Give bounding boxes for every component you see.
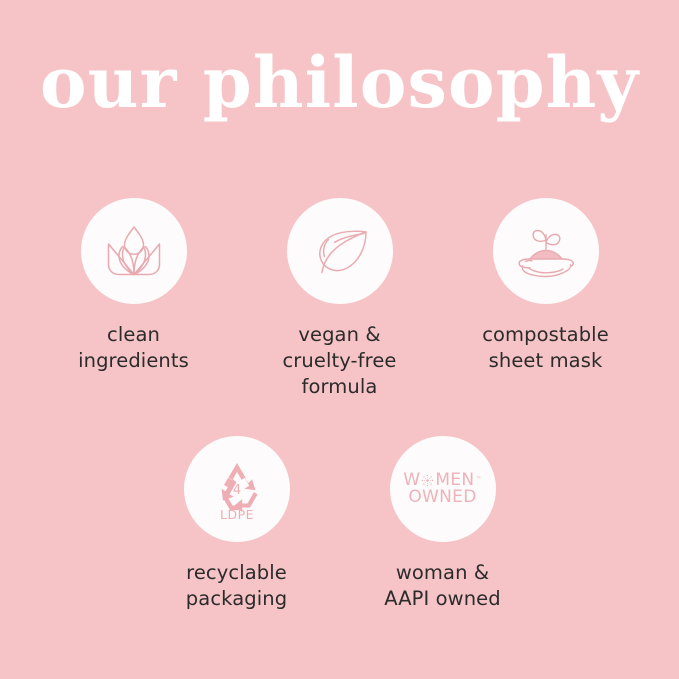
feature-vegan-cruelty-free: vegan & cruelty-free formula [237, 198, 443, 400]
caption-line: cruelty-free [282, 348, 396, 374]
caption-line: formula [282, 374, 396, 400]
badge-vegan-cruelty-free [287, 198, 393, 304]
lotus-droplet-leaves-icon [96, 213, 172, 289]
leaf-icon [304, 215, 376, 287]
page-title: our philosophy [0, 48, 679, 118]
recycling-ldpe-icon: 4 LDPE [202, 454, 272, 524]
caption-line: packaging [186, 586, 287, 612]
caption-line: ingredients [78, 348, 189, 374]
caption-clean-ingredients: clean ingredients [78, 322, 189, 374]
caption-line: woman & [384, 560, 501, 586]
starburst-icon [420, 473, 435, 488]
badge-compostable-sheet-mask [493, 198, 599, 304]
feature-row-bottom: 4 LDPE recyclable packaging W [0, 436, 679, 612]
caption-woman-aapi-owned: woman & AAPI owned [384, 560, 501, 612]
feature-recyclable-packaging: 4 LDPE recyclable packaging [134, 436, 340, 612]
caption-line: clean [78, 322, 189, 348]
women-owned-badge-icon: W [403, 472, 481, 507]
caption-compostable-sheet-mask: compostable sheet mask [482, 322, 609, 374]
caption-vegan-cruelty-free: vegan & cruelty-free formula [282, 322, 396, 400]
trademark-symbol: ™ [475, 477, 481, 483]
badge-women-owned: W [390, 436, 496, 542]
caption-line: compostable [482, 322, 609, 348]
feature-row-top: clean ingredients [0, 198, 679, 400]
feature-clean-ingredients: clean ingredients [31, 198, 237, 400]
women-owned-line-2: OWNED [403, 489, 481, 506]
badge-clean-ingredients [81, 198, 187, 304]
caption-line: recyclable [186, 560, 287, 586]
caption-line: sheet mask [482, 348, 609, 374]
caption-line: AAPI owned [384, 586, 501, 612]
badge-recyclable-packaging: 4 LDPE [184, 436, 290, 542]
caption-recyclable-packaging: recyclable packaging [186, 560, 287, 612]
feature-compostable-sheet-mask: compostable sheet mask [443, 198, 649, 400]
recycling-code-number: 4 [232, 483, 240, 498]
caption-line: vegan & [282, 322, 396, 348]
philosophy-infographic: our philosophy [0, 0, 679, 679]
hand-holding-sprout-icon [508, 213, 584, 289]
recycling-code-label: LDPE [219, 507, 253, 522]
feature-woman-aapi-owned: W [340, 436, 546, 612]
